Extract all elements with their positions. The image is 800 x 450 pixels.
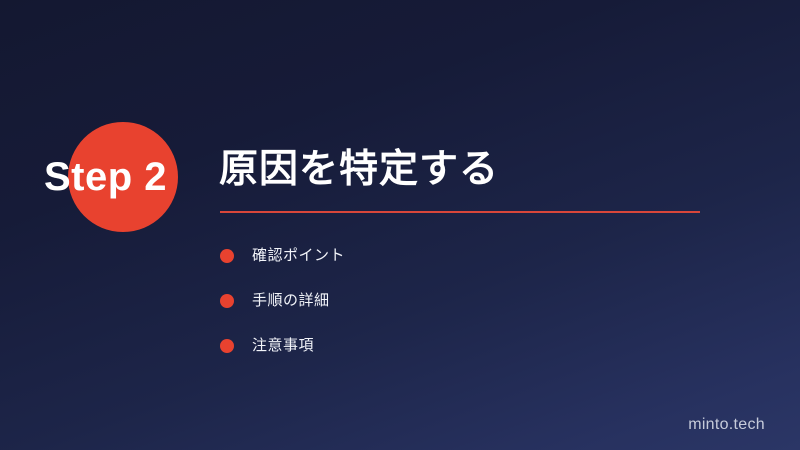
step-badge: Step 2 [0, 110, 215, 245]
bullet-list: 確認ポイント 手順の詳細 注意事項 [220, 233, 700, 368]
bullet-dot-icon [220, 249, 234, 263]
title-divider [220, 211, 700, 213]
list-item-label: 確認ポイント [252, 246, 345, 266]
list-item: 手順の詳細 [220, 278, 700, 323]
footer-brand: minto.tech [688, 415, 765, 435]
step-label: Step 2 [44, 153, 214, 201]
list-item: 注意事項 [220, 323, 700, 368]
page-title: 原因を特定する [219, 146, 499, 194]
slide-canvas: Step 2 原因を特定する 確認ポイント 手順の詳細 注意事項 minto.t… [0, 0, 800, 450]
list-item-label: 手順の詳細 [252, 291, 330, 311]
list-item-label: 注意事項 [252, 336, 314, 356]
bullet-dot-icon [220, 294, 234, 308]
list-item: 確認ポイント [220, 233, 700, 278]
bullet-dot-icon [220, 339, 234, 353]
